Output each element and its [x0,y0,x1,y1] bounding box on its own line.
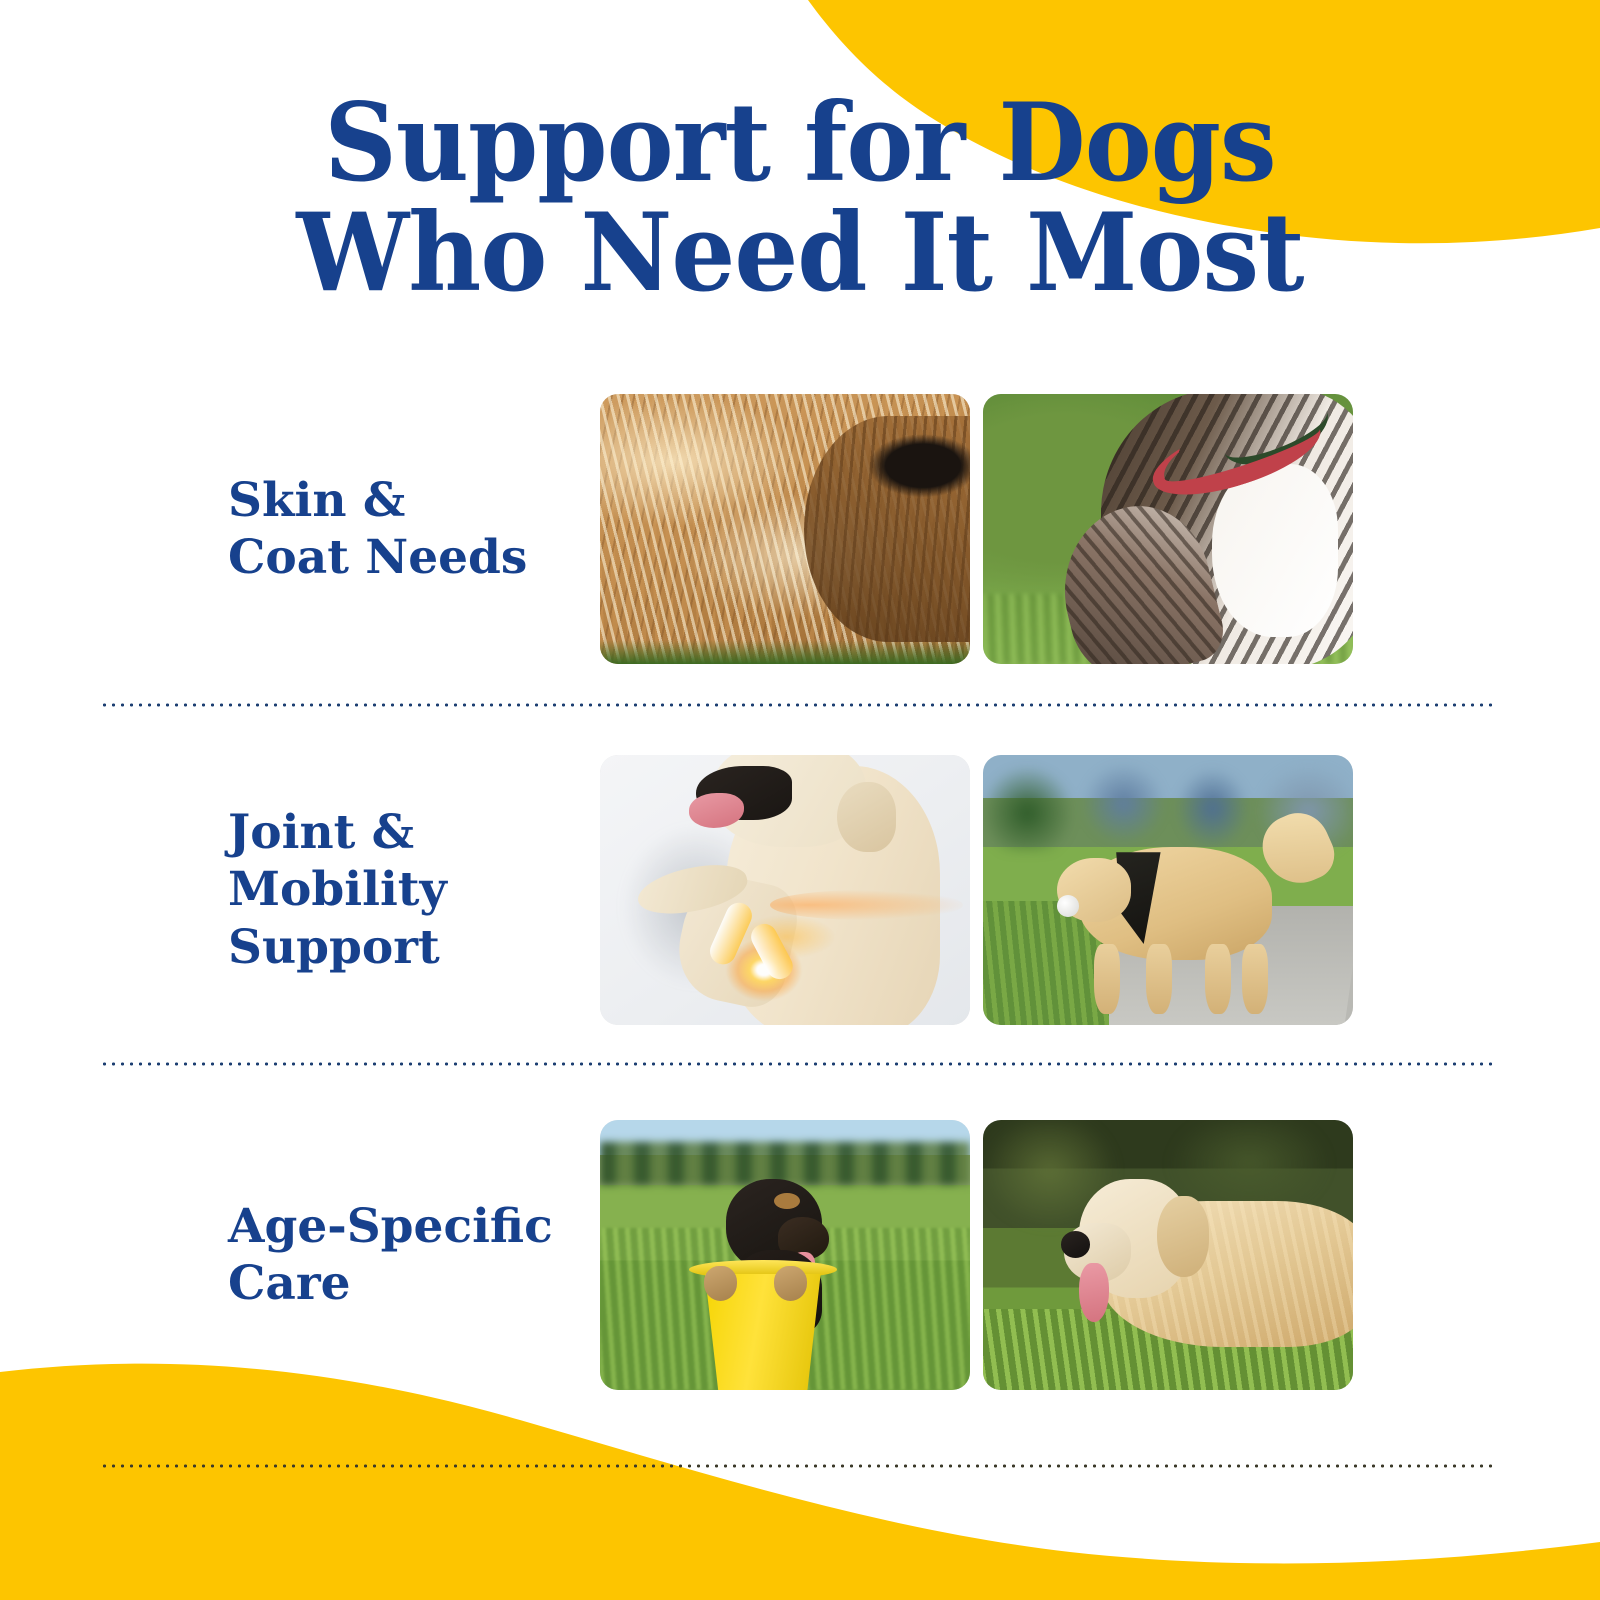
page-title-line-1: Support for Dogs [56,88,1544,198]
dog-shaggy-coat-closeup [600,394,970,664]
dog-nose [1061,1231,1091,1258]
scratching-dog-artwork [983,394,1353,664]
dog-chest [1212,464,1338,637]
dog-leg-rear [1205,944,1231,1014]
puppy-bucket-artwork [600,1120,970,1390]
golden-retriever-walking [983,755,1353,1025]
divider-after-joint-mobility [100,1062,1498,1066]
walking-retriever-artwork [983,755,1353,1025]
dog-scratching-red-collar [983,394,1353,664]
row-age-specific-care-label-line-2: Care [228,1255,600,1312]
row-joint-mobility-media [600,755,1353,1025]
page-title: Support for Dogs Who Need It Most [0,88,1600,308]
tennis-ball [1057,895,1079,917]
row-skin-coat-media [600,394,1353,664]
row-joint-mobility-label-line-2: Mobility [228,861,600,918]
puppy-paw-left [704,1266,737,1301]
row-joint-mobility: Joint & Mobility Support [0,755,1600,1025]
puppy-paw-right [774,1266,807,1301]
grass-strip [600,640,970,664]
dog-leg-mid [1146,944,1172,1014]
row-joint-mobility-label-line-1: Joint & [228,804,600,861]
divider-after-skin-coat [100,703,1498,707]
dog-leg-back [1242,944,1268,1014]
dog-tongue [1079,1263,1109,1322]
row-joint-mobility-label-line-3: Support [228,919,600,976]
dog-joint-pain-glow [600,755,970,1025]
senior-golden-retriever-resting [983,1120,1353,1390]
infographic-poster: Support for Dogs Who Need It Most Skin &… [0,0,1600,1600]
row-age-specific-care: Age-Specific Care [0,1120,1600,1390]
puppy-eyebrow-marking [774,1193,800,1209]
row-age-specific-care-label-line-1: Age-Specific [228,1198,600,1255]
row-age-specific-care-media [600,1120,1353,1390]
senior-retriever-artwork [983,1120,1353,1390]
row-age-specific-care-label: Age-Specific Care [0,1198,600,1313]
puppy-in-yellow-bucket [600,1120,970,1390]
dog-ear [837,782,896,852]
row-skin-coat-label-line-2: Coat Needs [228,529,600,586]
row-skin-coat-label-line-1: Skin & [228,472,600,529]
joint-glow-artwork [600,755,970,1025]
divider-footer [100,1464,1498,1468]
shaggy-coat-artwork [600,394,970,664]
tree-line [600,1142,970,1185]
row-joint-mobility-label: Joint & Mobility Support [0,804,600,976]
yellow-wave-bottom-shape [0,1364,1600,1600]
row-skin-coat-label: Skin & Coat Needs [0,472,600,587]
row-skin-coat: Skin & Coat Needs [0,394,1600,664]
dog-leg-front [1094,944,1120,1014]
dog-ear [1157,1196,1209,1277]
page-title-line-2: Who Need It Most [56,198,1544,308]
